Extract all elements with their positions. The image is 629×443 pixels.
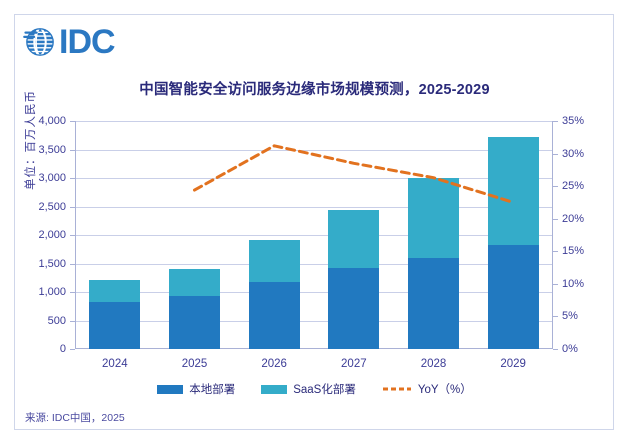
y-axis-title: 单位：百万人民币 — [22, 90, 38, 190]
x-axis-label: 2028 — [421, 358, 447, 370]
y-axis-left-label: 4,000 — [38, 115, 66, 127]
dashed-line-icon — [382, 384, 412, 394]
x-axis-label: 2024 — [102, 358, 128, 370]
y-axis-right-label: 25% — [562, 180, 584, 192]
legend: 本地部署 SaaS化部署 YoY（%） — [0, 381, 629, 397]
chart-screenshot: IDC 中国智能安全访问服务边缘市场规模预测，2025-2029 单位：百万人民… — [0, 0, 629, 443]
x-axis-label: 2029 — [500, 358, 526, 370]
yoy-line — [195, 146, 514, 203]
y-tick-right — [553, 284, 558, 285]
legend-swatch-saas — [261, 385, 287, 394]
y-axis-right-label: 35% — [562, 115, 584, 127]
y-axis-right-label: 20% — [562, 213, 584, 225]
y-axis-left-label: 1,000 — [38, 286, 66, 298]
globe-icon — [23, 25, 57, 59]
y-tick-right — [553, 219, 558, 220]
legend-label-yoy: YoY（%） — [418, 381, 472, 397]
y-tick-right — [553, 251, 558, 252]
y-axis-right-label: 10% — [562, 278, 584, 290]
y-axis-left-label: 500 — [48, 315, 66, 327]
legend-item-local: 本地部署 — [157, 381, 235, 397]
legend-item-saas: SaaS化部署 — [261, 381, 356, 397]
y-axis-left-label: 2,500 — [38, 201, 66, 213]
y-axis-left-label: 2,000 — [38, 229, 66, 241]
legend-label-local: 本地部署 — [189, 381, 235, 397]
y-axis-right-label: 5% — [562, 310, 578, 322]
yoy-line-series — [75, 121, 553, 349]
y-tick-right — [553, 316, 558, 317]
legend-item-yoy: YoY（%） — [382, 381, 472, 397]
y-axis-left-label: 1,500 — [38, 258, 66, 270]
x-axis-label: 2027 — [341, 358, 367, 370]
y-axis-right-label: 15% — [562, 245, 584, 257]
y-tick-right — [553, 186, 558, 187]
y-tick-right — [553, 349, 558, 350]
y-tick-left — [70, 349, 75, 350]
y-axis-left-label: 0 — [60, 343, 66, 355]
y-axis-right-label: 0% — [562, 343, 578, 355]
y-axis-left-label: 3,500 — [38, 144, 66, 156]
x-axis-label: 2026 — [261, 358, 287, 370]
logo-text: IDC — [59, 25, 115, 59]
page-title: 中国智能安全访问服务边缘市场规模预测，2025-2029 — [0, 78, 629, 99]
y-axis-right-label: 30% — [562, 148, 584, 160]
y-axis-left-label: 3,000 — [38, 172, 66, 184]
legend-swatch-local — [157, 385, 183, 394]
y-tick-right — [553, 154, 558, 155]
y-tick-right — [553, 121, 558, 122]
x-axis-label: 2025 — [182, 358, 208, 370]
legend-label-saas: SaaS化部署 — [293, 381, 356, 397]
plot-area: 05001,0001,5002,0002,5003,0003,5004,000 … — [75, 121, 553, 349]
source-note: 来源: IDC中国，2025 — [25, 410, 125, 425]
idc-logo: IDC — [23, 22, 115, 62]
